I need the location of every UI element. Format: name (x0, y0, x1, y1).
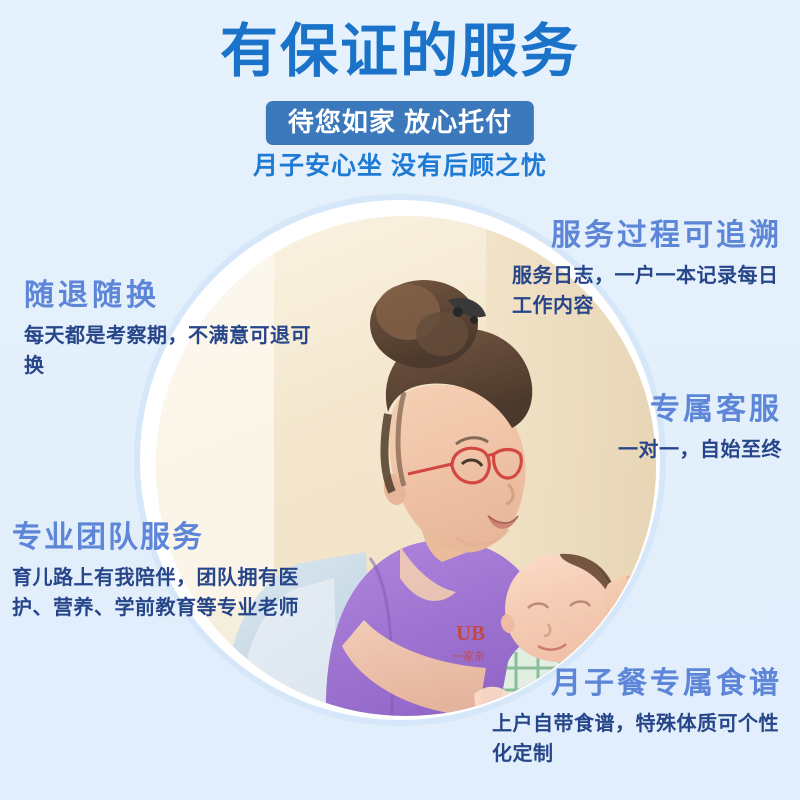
page-title: 有保证的服务 (0, 18, 800, 86)
feature-service-heading: 专属客服 (502, 392, 782, 428)
feature-team-body: 育儿路上有我陪伴，团队拥有医护、营养、学前教育等专业老师 (12, 563, 312, 623)
tagline-badge: 待您如家 放心托付 (266, 101, 534, 145)
feature-return: 随退随换 每天都是考察期，不满意可退可换 (24, 278, 324, 381)
feature-team-heading: 专业团队服务 (12, 520, 312, 556)
feature-service-body: 一对一，自始至终 (502, 435, 782, 465)
feature-trace-heading: 服务过程可追溯 (492, 218, 782, 254)
subtitle: 月子安心坐 没有后顾之忧 (0, 150, 800, 182)
feature-trace-body: 服务日志，一户一本记录每日工作内容 (512, 261, 782, 321)
feature-team: 专业团队服务 育儿路上有我陪伴，团队拥有医护、营养、学前教育等专业老师 (12, 520, 312, 623)
feature-meal-heading: 月子餐专属食谱 (482, 666, 782, 702)
feature-trace: 服务过程可追溯 服务日志，一户一本记录每日工作内容 (492, 218, 782, 321)
feature-service: 专属客服 一对一，自始至终 (502, 392, 782, 465)
feature-return-heading: 随退随换 (24, 278, 324, 314)
promo-poster: 有保证的服务 待您如家 放心托付 月子安心坐 没有后顾之忧 (0, 0, 800, 800)
feature-meal-body: 上户自带食谱，特殊体质可个性化定制 (492, 709, 782, 769)
feature-return-body: 每天都是考察期，不满意可退可换 (24, 321, 324, 381)
feature-meal: 月子餐专属食谱 上户自带食谱，特殊体质可个性化定制 (482, 666, 782, 769)
